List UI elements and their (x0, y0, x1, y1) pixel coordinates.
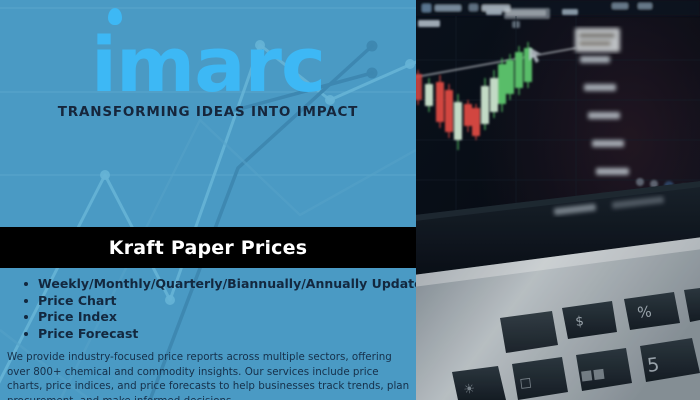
feature-label: Price Index (38, 309, 117, 324)
logo-wordmark-text: imarc (91, 30, 325, 100)
list-item: Price Forecast (24, 326, 416, 343)
description-paragraph: We provide industry-focused price report… (7, 350, 411, 400)
logo-dot-icon (108, 8, 122, 25)
title-bar: Kraft Paper Prices (0, 227, 416, 268)
list-item: Price Chart (24, 293, 416, 310)
kraft-paper-prices-banner: imarc TRANSFORMING IDEAS INTO IMPACT Kra… (0, 0, 700, 400)
feature-label: Price Forecast (38, 326, 138, 341)
page-title: Kraft Paper Prices (109, 237, 307, 259)
list-item: Weekly/Monthly/Quarterly/Biannually/Annu… (24, 276, 416, 293)
feature-list: Weekly/Monthly/Quarterly/Biannually/Annu… (0, 276, 416, 342)
logo-wordmark-label: imarc (91, 20, 325, 109)
list-item: Price Index (24, 309, 416, 326)
feature-label: Price Chart (38, 293, 117, 308)
left-content-panel: imarc TRANSFORMING IDEAS INTO IMPACT Kra… (0, 0, 416, 400)
imarc-logo: imarc TRANSFORMING IDEAS INTO IMPACT (0, 30, 416, 120)
trading-chart-photo: $ % 5 ◻ ■■ ☀ (416, 0, 700, 400)
feature-label: Weekly/Monthly/Quarterly/Biannually/Annu… (38, 276, 416, 291)
photo-artwork: $ % 5 ◻ ■■ ☀ (416, 0, 700, 400)
